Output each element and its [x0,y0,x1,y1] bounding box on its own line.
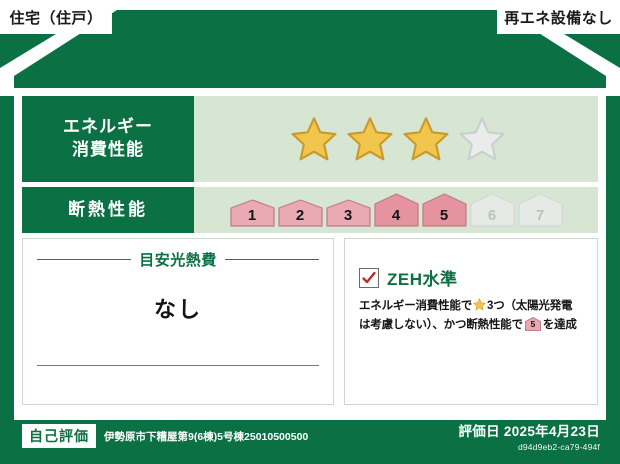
zeh-heading: ZEH水準 [359,265,585,290]
footer-right: 評価日 2025年4月23日 d94d9eb2-ca79-494f [458,420,600,452]
insulation-performance-value: 1234567 [194,187,598,233]
zeh-description: エネルギー消費性能で3つ（太陽光発電 は考慮しない）、かつ断熱性能で5を達成 [359,297,585,335]
grade-number: 1 [230,207,275,224]
utility-cost-divider [37,365,319,366]
zeh-desc-line2-a: は考慮しない）、かつ断熱性能で [359,319,523,331]
zeh-desc-line2-b: を達成 [543,319,577,331]
energy-label-line1: エネルギー [63,116,153,139]
insulation-label-text: 断熱性能 [68,199,148,222]
grade-number: 4 [374,207,419,224]
zeh-checkbox[interactable] [359,268,379,288]
insulation-grade-1: 1 [230,199,275,227]
grade-number: 3 [326,207,371,224]
zeh-title: ZEH水準 [387,265,458,290]
energy-performance-value [194,96,598,182]
evaluation-id: d94d9eb2-ca79-494f [458,442,600,452]
title-subtitle: 建築物省エネ法に基づく [0,38,620,52]
inline-grade-badge: 5 [525,317,541,331]
utility-cost-value: なし [23,292,333,324]
insulation-grade-6: 6 [470,193,515,227]
energy-performance-label: 住宅（住戸） 再エネ設備なし 建築物省エネ法に基づく 省エネ性能ラベル エネルギ… [0,0,620,464]
title-main: 省エネ性能ラベル [0,56,620,81]
star-filled-icon [347,116,393,162]
insulation-grade-scale: 1234567 [224,193,569,227]
self-evaluation-badge: 自己評価 [22,424,96,448]
star-filled-icon [291,116,337,162]
zeh-desc-line1-b: 3つ（太陽光発電 [487,300,572,312]
energy-performance-row: エネルギー 消費性能 [22,96,598,182]
star-filled-icon [403,116,449,162]
check-icon [361,270,377,286]
star-empty-icon [459,116,505,162]
insulation-performance-row: 断熱性能 1234567 [22,187,598,233]
heading-rule-right [225,259,319,260]
insulation-grade-3: 3 [326,199,371,227]
utility-cost-heading-text: 目安光熱費 [131,249,225,270]
star-rating [287,116,505,162]
utility-cost-heading: 目安光熱費 [23,239,333,270]
insulation-grade-4: 4 [374,193,419,227]
label-content: エネルギー 消費性能 断熱性能 1234567 目安光熱費 [22,96,598,412]
property-address: 伊勢原市下糟屋第9(6棟)5号棟25010500500 [104,429,308,444]
badge-building-type: 住宅（住戸） [0,0,112,34]
grade-number: 6 [470,207,515,224]
heading-rule-left [37,259,131,260]
utility-cost-panel: 目安光熱費 なし [22,238,334,405]
zeh-desc-line1-a: エネルギー消費性能で [359,300,472,312]
grade-number: 7 [518,207,563,224]
bottom-panels: 目安光熱費 なし ZEH水準 エネルギー消費性能で3つ（太陽光発電 [22,238,598,405]
evaluation-date: 評価日 2025年4月23日 [458,420,600,440]
zeh-panel: ZEH水準 エネルギー消費性能で3つ（太陽光発電 は考慮しない）、かつ断熱性能で… [344,238,598,405]
energy-label-line2: 消費性能 [63,139,153,162]
inline-star-icon [473,298,486,311]
inline-grade-value: 5 [525,317,541,331]
insulation-grade-5: 5 [422,193,467,227]
badge-renewable-energy: 再エネ設備なし [497,0,620,34]
label-title-block: 建築物省エネ法に基づく 省エネ性能ラベル [0,38,620,81]
insulation-grade-7: 7 [518,193,563,227]
energy-performance-label: エネルギー 消費性能 [22,96,194,182]
label-footer: 自己評価 伊勢原市下糟屋第9(6棟)5号棟25010500500 評価日 202… [0,416,620,464]
grade-number: 2 [278,207,323,224]
footer-left: 自己評価 伊勢原市下糟屋第9(6棟)5号棟25010500500 [22,424,308,448]
grade-number: 5 [422,207,467,224]
insulation-grade-2: 2 [278,199,323,227]
insulation-performance-label: 断熱性能 [22,187,194,233]
